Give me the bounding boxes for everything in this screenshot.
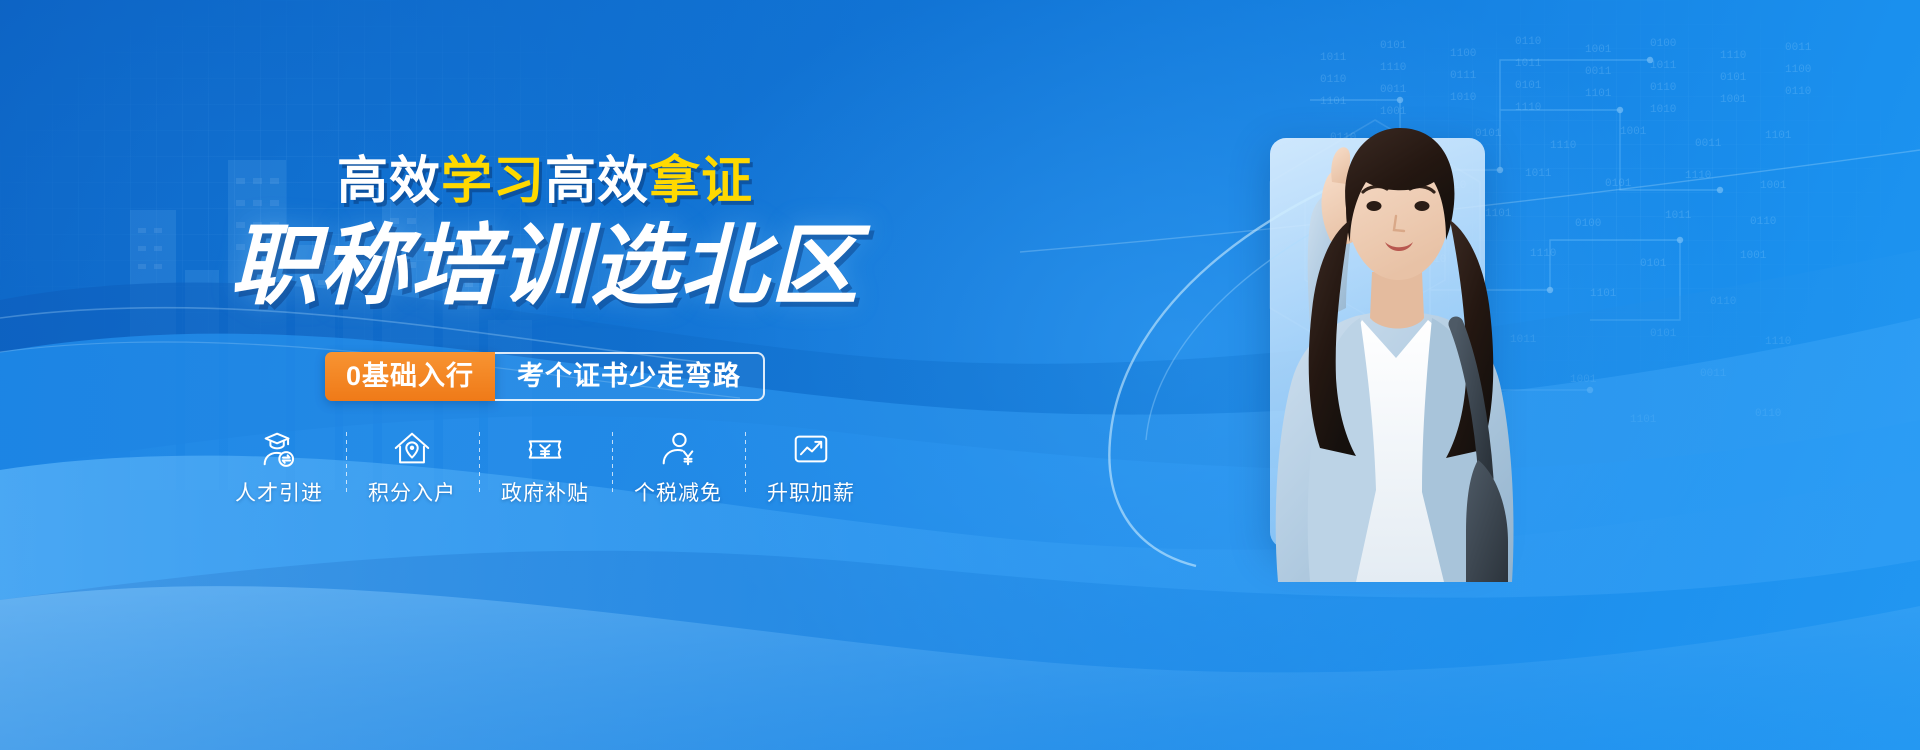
svg-text:0110: 0110 [1755,408,1781,420]
feature-item-tax[interactable]: 个税减免 [612,428,745,504]
kicker-seg-0: 高效 [337,152,441,209]
kicker-seg-3: 拿证 [649,152,753,209]
svg-text:0110: 0110 [1650,82,1676,94]
model-stage [1100,120,1620,580]
svg-text:0110: 0110 [1515,36,1541,48]
svg-text:0011: 0011 [1700,368,1727,380]
svg-text:1011: 1011 [1665,210,1692,222]
promo-banner: 101101101101 0101111000111001 1100011110… [0,0,1920,750]
svg-text:0110: 0110 [1750,216,1776,228]
svg-text:0101: 0101 [1720,72,1747,84]
person-photo [1160,112,1590,582]
svg-text:0101: 0101 [1640,258,1667,270]
svg-text:0110: 0110 [1710,296,1736,308]
feature-item-subsidy[interactable]: 政府补贴 [479,428,612,504]
svg-text:1101: 1101 [1765,130,1792,142]
ticket-yuan-icon [524,428,566,470]
feature-item-promotion[interactable]: 升职加薪 [745,428,878,504]
growth-chart-icon [790,428,832,470]
svg-text:1100: 1100 [1450,48,1476,60]
headline-before: 职称培训 [230,216,590,315]
svg-text:1001: 1001 [1760,180,1787,192]
svg-text:1011: 1011 [1515,58,1542,70]
svg-text:1001: 1001 [1620,126,1647,138]
feature-label: 升职加薪 [767,483,855,504]
svg-text:1001: 1001 [1720,94,1747,106]
svg-text:0100: 0100 [1650,38,1676,50]
svg-text:1010: 1010 [1650,104,1676,116]
headline: 职称培训选北区 [0,222,1090,310]
graduate-person-icon [258,428,300,470]
svg-text:0110: 0110 [1785,86,1811,98]
svg-text:0011: 0011 [1695,138,1722,150]
svg-text:1110: 1110 [1765,336,1791,348]
kicker-line: 高效学习高效拿证 [0,155,1090,206]
headline-mark-char: 选 [590,222,680,310]
svg-text:1100: 1100 [1785,64,1811,76]
svg-text:1010: 1010 [1450,92,1476,104]
kicker-seg-2: 高效 [545,152,649,209]
svg-text:1011: 1011 [1320,52,1347,64]
svg-text:0101: 0101 [1380,40,1407,52]
headline-after: 北区 [680,216,860,315]
feature-list: 人才引进 积分入户 [0,428,1090,504]
svg-text:0110: 0110 [1320,74,1346,86]
house-pin-icon [391,428,433,470]
copy-block: 高效学习高效拿证 职称培训选北区 0基础入行 考个证书少走弯路 [0,0,1090,750]
svg-text:1011: 1011 [1650,60,1677,72]
feature-label: 个税减免 [634,483,722,504]
svg-text:0101: 0101 [1650,328,1677,340]
svg-text:1110: 1110 [1380,62,1406,74]
svg-text:0101: 0101 [1515,80,1542,92]
pill-certificate[interactable]: 考个证书少走弯路 [495,352,765,401]
feature-item-talent[interactable]: 人才引进 [213,428,346,504]
person-yuan-icon [657,428,699,470]
svg-text:1001: 1001 [1585,44,1612,56]
svg-text:0011: 0011 [1785,42,1812,54]
pill-zero-base[interactable]: 0基础入行 [325,352,495,401]
svg-text:0011: 0011 [1380,84,1407,96]
feature-label: 积分入户 [368,483,456,504]
svg-text:1101: 1101 [1630,414,1657,426]
kicker-seg-1: 学习 [441,152,545,209]
feature-label: 政府补贴 [501,483,589,504]
svg-text:1101: 1101 [1320,96,1347,108]
tagline-pill-group: 0基础入行 考个证书少走弯路 [0,352,1090,401]
svg-text:1001: 1001 [1740,250,1767,262]
feature-item-residency[interactable]: 积分入户 [346,428,479,504]
feature-label: 人才引进 [235,483,323,504]
svg-text:1110: 1110 [1685,170,1711,182]
svg-text:0111: 0111 [1450,70,1477,82]
svg-text:1110: 1110 [1720,50,1746,62]
svg-text:1101: 1101 [1585,88,1612,100]
svg-text:0011: 0011 [1585,66,1612,78]
